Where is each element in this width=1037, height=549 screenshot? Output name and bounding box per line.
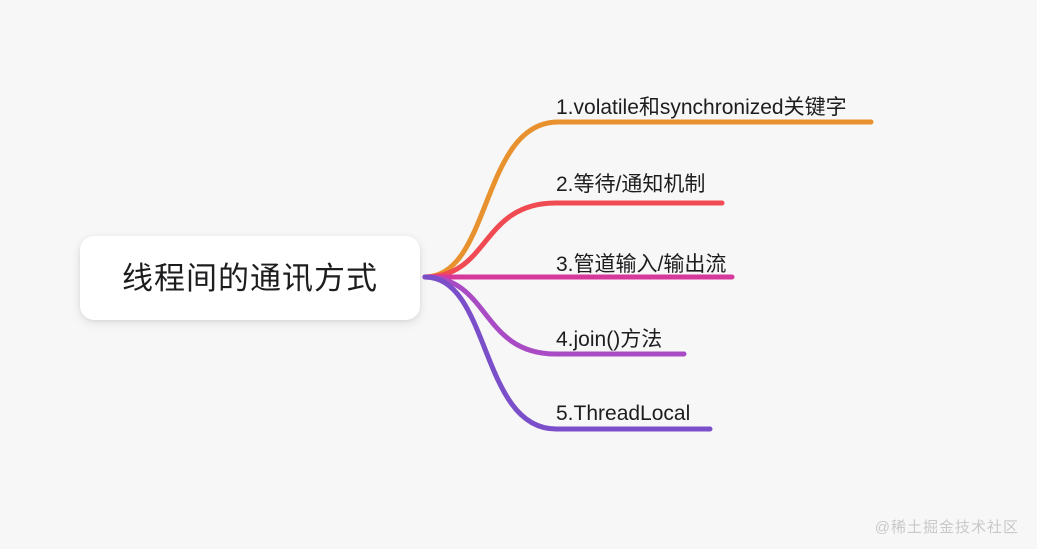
branch-label-4[interactable]: 4.join()方法 (556, 329, 662, 350)
branch-label-5[interactable]: 5.ThreadLocal (556, 403, 690, 424)
branch-label-1[interactable]: 1.volatile和synchronized关键字 (556, 97, 847, 118)
watermark: @稀土掘金技术社区 (875, 516, 1019, 537)
branch-label-3[interactable]: 3.管道输入/输出流 (556, 254, 726, 275)
root-node[interactable]: 线程间的通讯方式 (80, 236, 420, 320)
root-node-label: 线程间的通讯方式 (122, 263, 378, 294)
branch-label-2[interactable]: 2.等待/通知机制 (556, 174, 705, 195)
mindmap-canvas: 线程间的通讯方式 1.volatile和synchronized关键字 2.等待… (0, 0, 1037, 549)
